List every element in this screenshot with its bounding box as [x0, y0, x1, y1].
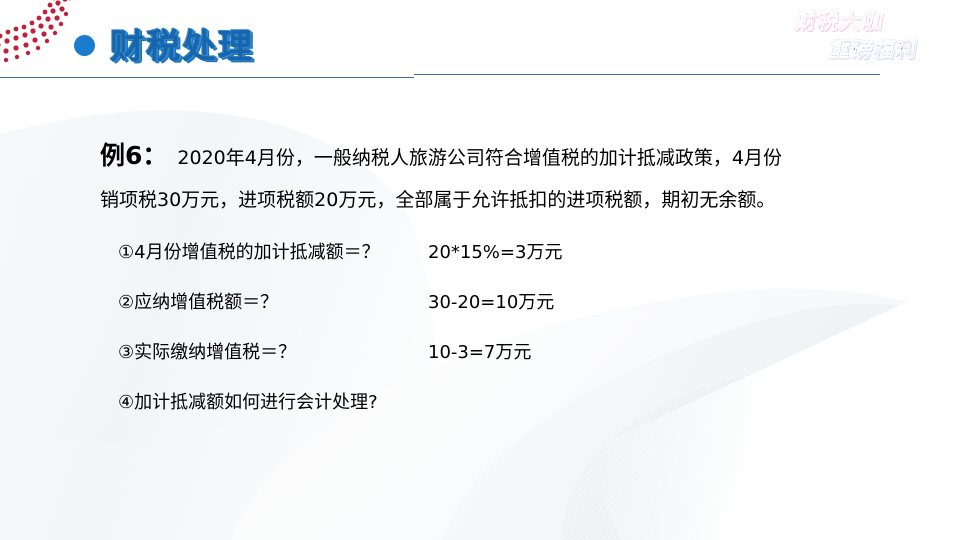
- list-item: ④加计抵减额如何进行会计处理?: [118, 388, 818, 414]
- question-text: ④加计抵减额如何进行会计处理?: [118, 388, 428, 414]
- question-text: ①4月份增值税的加计抵减额＝？: [118, 238, 428, 264]
- answer-text: 20*15%=3万元: [428, 238, 562, 264]
- presentation-slide: 财税处理 财税大咖 重磅福利 例6：2020年4月份，一般纳税人旅游公司符合增值…: [0, 0, 960, 540]
- example-label: 例6：: [100, 141, 167, 170]
- list-item: ③实际缴纳增值税＝？10-3=7万元: [118, 338, 818, 364]
- list-item: ①4月份增值税的加计抵减额＝？20*15%=3万元: [118, 238, 818, 264]
- question-text: ③实际缴纳增值税＝？: [118, 338, 428, 364]
- answer-text: 10-3=7万元: [428, 338, 531, 364]
- answer-text: 30-20=10万元: [428, 288, 554, 314]
- example-paragraph-line-2: 销项税30万元，进项税额20万元，全部属于允许抵扣的进项税额，期初无余额。: [100, 185, 775, 212]
- example-paragraph-line-1: 例6：2020年4月份，一般纳税人旅游公司符合增值税的加计抵减政策，4月份: [100, 136, 782, 172]
- slide-body: 例6：2020年4月份，一般纳税人旅游公司符合增值税的加计抵减政策，4月份 销项…: [0, 0, 960, 540]
- question-text: ②应纳增值税额＝？: [118, 288, 428, 314]
- example-text-line-1: 2020年4月份，一般纳税人旅游公司符合增值税的加计抵减政策，4月份: [177, 147, 782, 169]
- list-item: ②应纳增值税额＝？30-20=10万元: [118, 288, 818, 314]
